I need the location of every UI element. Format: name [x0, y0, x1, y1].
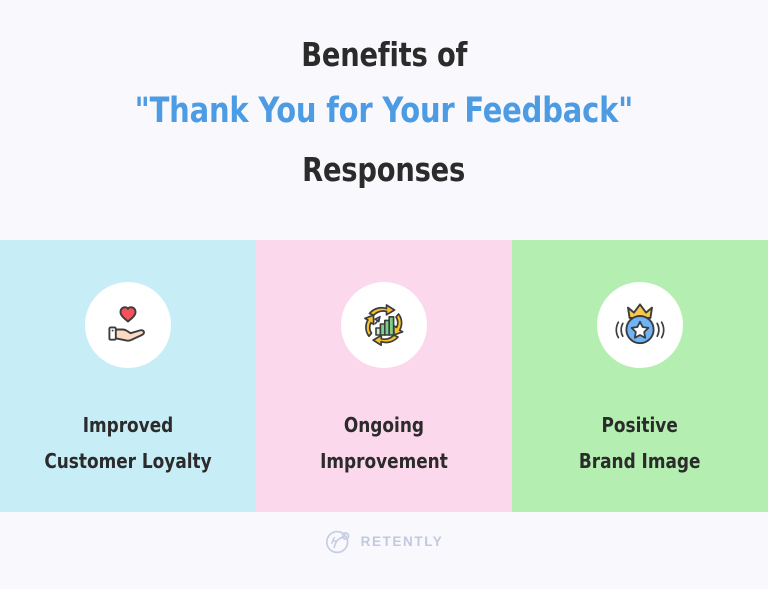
benefit-panels: Improved Customer Loyalty: [0, 240, 768, 512]
header-section: Benefits of "Thank You for Your Feedback…: [0, 0, 768, 240]
panel-label-line-2: Improvement: [320, 444, 448, 480]
panel-label-positive-brand-image: Positive Brand Image: [579, 408, 701, 479]
cycle-arrows-growth-chart-icon: [355, 296, 413, 354]
benefit-panel-improved-customer-loyalty[interactable]: Improved Customer Loyalty: [0, 240, 256, 512]
brand-name-label: RETENTLY: [361, 534, 444, 549]
hand-holding-heart-icon: [99, 296, 157, 354]
panel-label-improved-customer-loyalty: Improved Customer Loyalty: [44, 408, 211, 479]
crowned-star-badge-icon: [611, 296, 669, 354]
icon-badge-positive-brand-image: [597, 282, 683, 368]
title-line-1: Benefits of: [301, 38, 467, 71]
panel-label-line-1: Improved: [83, 413, 174, 437]
benefit-panel-ongoing-improvement[interactable]: Ongoing Improvement: [256, 240, 512, 512]
panel-label-line-1: Ongoing: [344, 413, 424, 437]
panel-label-line-1: Positive: [602, 413, 678, 437]
footer-branding: RETENTLY: [0, 512, 768, 589]
title-line-2-highlight: "Thank You for Your Feedback": [135, 94, 633, 129]
panel-label-ongoing-improvement: Ongoing Improvement: [320, 408, 448, 479]
icon-badge-ongoing-improvement: [341, 282, 427, 368]
panel-label-line-2: Brand Image: [579, 444, 701, 480]
title-line-3: Responses: [302, 153, 465, 186]
icon-badge-improved-customer-loyalty: [85, 282, 171, 368]
retently-logo-icon: [325, 528, 352, 555]
infographic-canvas: Benefits of "Thank You for Your Feedback…: [0, 0, 768, 589]
benefit-panel-positive-brand-image[interactable]: Positive Brand Image: [512, 240, 768, 512]
panel-label-line-2: Customer Loyalty: [44, 444, 211, 480]
